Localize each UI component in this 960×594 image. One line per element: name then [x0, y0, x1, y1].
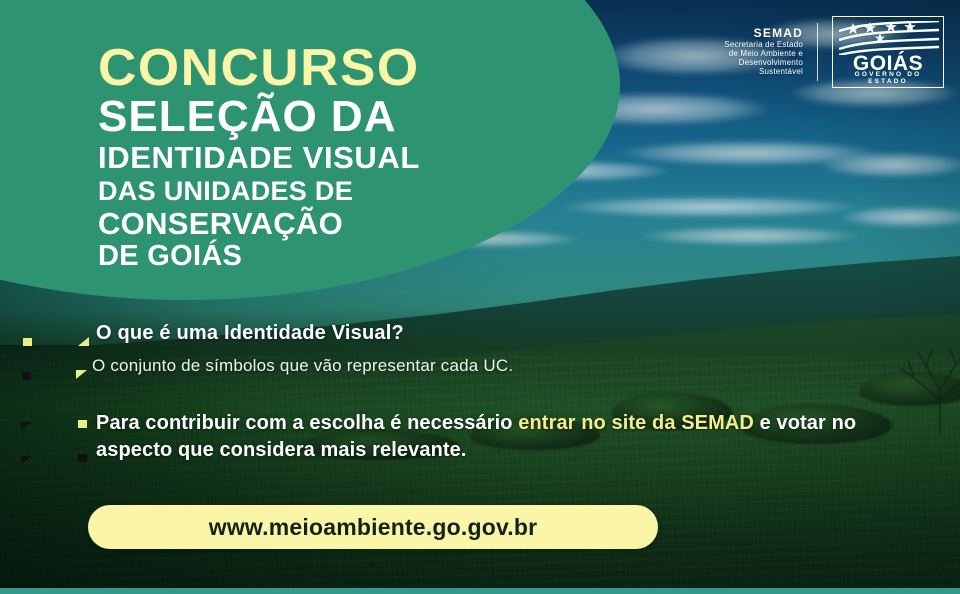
semad-name: SEMAD: [724, 27, 803, 40]
cta-highlight-site-semad: no site da SEMAD: [581, 412, 754, 434]
question-text: O que é uma Identidade Visual?: [96, 322, 404, 345]
triangle-marker-yellow: [76, 370, 87, 379]
cta-highlight-entrar: entrar: [518, 412, 575, 434]
poster-canvas: SEMAD Secretaria de Estado de Meio Ambie…: [0, 0, 960, 594]
logo-bar: SEMAD Secretaria de Estado de Meio Ambie…: [724, 16, 944, 88]
answer-text: O conjunto de símbolos que vão represent…: [92, 356, 513, 376]
triangle-marker-dark: [21, 422, 32, 430]
square-marker-yellow: [78, 420, 87, 428]
title-line-identidade: IDENTIDADE VISUAL: [98, 142, 568, 175]
goias-tagline: GOVERNO DO ESTADO: [833, 71, 943, 85]
cta-part-1: Para contribuir com a escolha é necessár…: [96, 412, 518, 434]
website-url-button[interactable]: www.meioambiente.go.gov.br: [88, 505, 658, 549]
triangle-marker-yellow: [78, 337, 89, 346]
website-url-label: www.meioambiente.go.gov.br: [209, 514, 538, 541]
semad-subtitle-line-4: Sustentável: [724, 68, 803, 77]
title-line-unidades: DAS UNIDADES DE: [98, 177, 568, 207]
square-marker-dark: [78, 454, 87, 462]
bottom-accent-strip: [0, 588, 960, 594]
triangle-marker-dark: [21, 456, 32, 464]
semad-logo: SEMAD Secretaria de Estado de Meio Ambie…: [724, 27, 817, 76]
title-line-conservacao: CONSERVAÇÃO: [98, 207, 568, 241]
square-marker-dark: [22, 372, 31, 380]
goias-government-logo: GOIÁS GOVERNO DO ESTADO: [832, 16, 944, 88]
goias-flag-icon: [839, 21, 939, 55]
page-title: CONCURSO SELEÇÃO DA IDENTIDADE VISUAL DA…: [98, 44, 568, 272]
logo-divider: [817, 23, 818, 81]
call-to-action-text: Para contribuir com a escolha é necessár…: [96, 410, 896, 463]
square-marker-yellow: [23, 338, 32, 346]
title-line-selecao: SELEÇÃO DA: [98, 95, 568, 140]
title-line-concurso: CONCURSO: [98, 44, 577, 93]
title-line-goias: DE GOIÁS: [98, 241, 568, 273]
